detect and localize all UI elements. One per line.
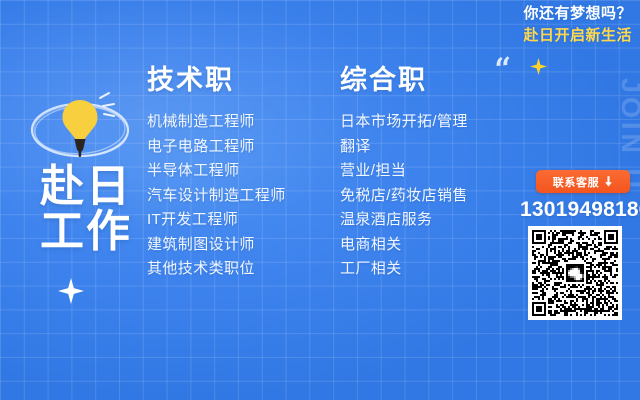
qr-code[interactable] <box>528 226 622 320</box>
list-item: 营业/担当 <box>340 159 468 184</box>
column-heading-technical: 技术职 <box>147 64 286 96</box>
list-item: 电商相关 <box>340 233 468 258</box>
column-general-jobs: 综合职 日本市场开拓/管理 翻译 营业/担当 免税店/药妆店销售 温泉酒店服务 … <box>340 64 468 282</box>
job-list-general: 日本市场开拓/管理 翻译 营业/担当 免税店/药妆店销售 温泉酒店服务 电商相关… <box>340 110 468 282</box>
star-white-icon <box>58 278 84 304</box>
list-item: 温泉酒店服务 <box>340 208 468 233</box>
list-item: 日本市场开拓/管理 <box>340 110 468 135</box>
list-item: 半导体工程师 <box>147 159 286 184</box>
qr-code-canvas <box>532 230 618 316</box>
list-item: 建筑制图设计师 <box>147 233 286 258</box>
list-item: 机械制造工程师 <box>147 110 286 135</box>
promo-banner: 你还有梦想吗？ 赴日开启新生活 “ JOIN U 赴日 工作 技术职 <box>0 0 640 400</box>
page-title: 赴日 工作 <box>26 164 146 254</box>
contact-phone-number: 13019498186 <box>520 198 638 222</box>
title-line-2: 工作 <box>26 209 146 254</box>
list-item: 翻译 <box>340 135 468 160</box>
contact-support-button[interactable]: 联系客服 <box>536 170 630 193</box>
list-item: IT开发工程师 <box>147 208 286 233</box>
headline-line-1: 你还有梦想吗？ <box>523 4 632 24</box>
job-list-technical: 机械制造工程师 电子电路工程师 半导体工程师 汽车设计制造工程师 IT开发工程师… <box>147 110 286 282</box>
contact-support-label: 联系客服 <box>553 174 599 190</box>
headline-line-2: 赴日开启新生活 <box>523 25 632 47</box>
list-item: 其他技术类职位 <box>147 257 286 282</box>
list-item: 汽车设计制造工程师 <box>147 184 286 209</box>
column-technical-jobs: 技术职 机械制造工程师 电子电路工程师 半导体工程师 汽车设计制造工程师 IT开… <box>147 64 286 282</box>
quote-mark-icon: “ <box>493 54 513 86</box>
list-item: 工厂相关 <box>340 257 468 282</box>
lightbulb-icon <box>24 82 136 174</box>
arrow-down-icon <box>604 176 613 187</box>
title-line-1: 赴日 <box>26 164 146 209</box>
list-item: 免税店/药妆店销售 <box>340 184 468 209</box>
list-item: 电子电路工程师 <box>147 135 286 160</box>
headline-block: 你还有梦想吗？ 赴日开启新生活 <box>523 4 632 47</box>
star-yellow-icon <box>530 58 547 75</box>
column-heading-general: 综合职 <box>340 64 468 96</box>
